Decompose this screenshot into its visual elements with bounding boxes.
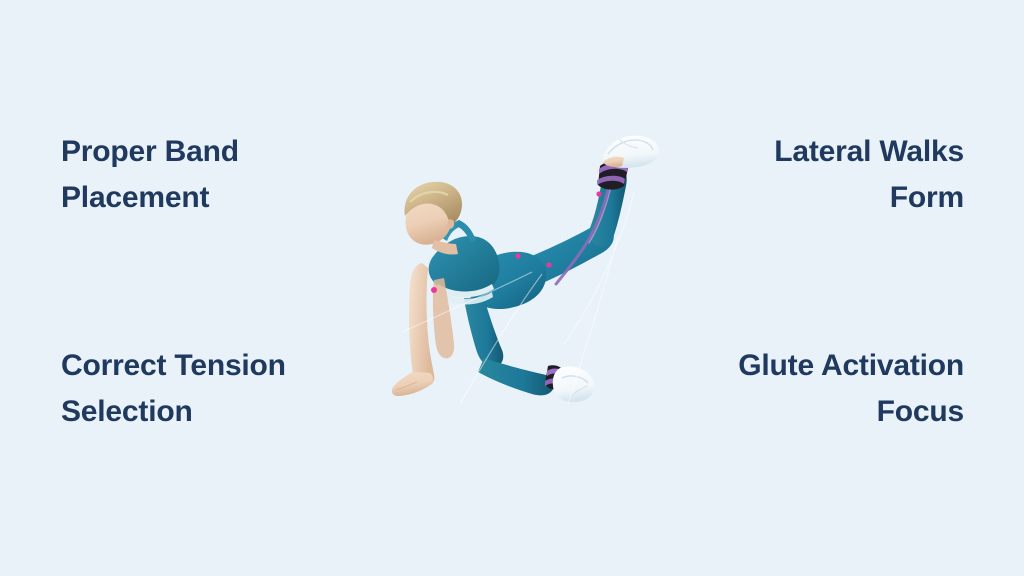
exercise-figure xyxy=(372,132,662,412)
callout-top-right: Lateral Walks Form xyxy=(634,129,964,221)
marker-dot xyxy=(515,253,520,258)
supporting-arm xyxy=(409,263,434,386)
callout-bottom-right: Glute Activation Focus xyxy=(634,343,964,435)
marker-dot xyxy=(546,262,551,267)
slide-canvas: Proper Band Placement Lateral Walks Form… xyxy=(0,0,1024,576)
supporting-shin xyxy=(478,358,554,395)
woman-exercising-photo xyxy=(372,132,662,412)
marker-dot xyxy=(431,287,437,293)
callout-top-left: Proper Band Placement xyxy=(61,129,391,221)
callout-bottom-left: Correct Tension Selection xyxy=(61,343,391,435)
head xyxy=(405,182,462,245)
marker-dot xyxy=(596,191,601,196)
